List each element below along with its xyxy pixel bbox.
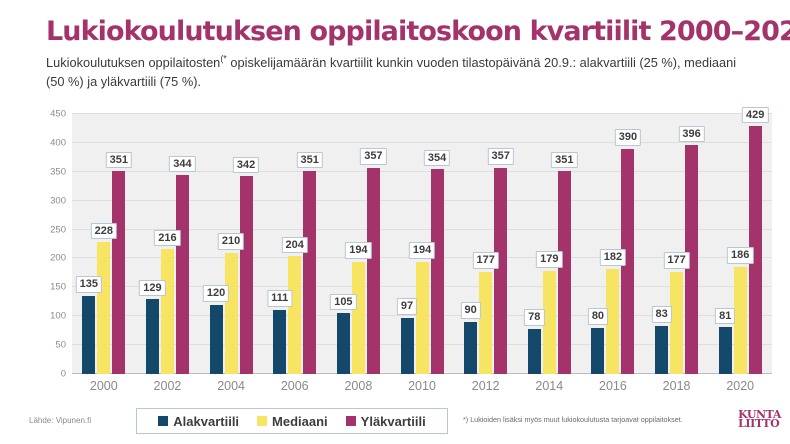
bar-value-label: 186: [727, 247, 753, 264]
bar-group: 105194357: [327, 114, 391, 374]
bar-rect: [479, 272, 492, 374]
legend-swatch-icon: [257, 416, 267, 426]
chart-footer: Lähde: Vipunen.fi AlakvartiiliMediaaniYl…: [0, 400, 790, 444]
bar[interactable]: 351: [303, 171, 316, 374]
x-axis-tick-label: 2018: [645, 374, 709, 400]
x-axis-tick-label: 2014: [517, 374, 581, 400]
bar-rect: [352, 262, 365, 374]
bar[interactable]: 179: [543, 271, 556, 374]
bar-group: 129216344: [136, 114, 200, 374]
bar[interactable]: 182: [606, 269, 619, 374]
bar[interactable]: 357: [494, 168, 507, 374]
bar[interactable]: 90: [464, 322, 477, 374]
legend-item[interactable]: Alakvartiili: [158, 414, 239, 429]
bar-group: 111204351: [263, 114, 327, 374]
bar-rect: [225, 253, 238, 374]
bar-rect: [240, 176, 253, 374]
bar[interactable]: 135: [82, 296, 95, 374]
bar-groups: 1352283511292163441202103421112043511051…: [72, 114, 772, 374]
bar-rect: [176, 175, 189, 374]
bar-value-label: 182: [600, 249, 626, 266]
bar-group: 135228351: [72, 114, 136, 374]
bar-group: 81186429: [708, 114, 772, 374]
bar-value-label: 204: [282, 237, 308, 254]
bar-value-label: 390: [615, 129, 641, 146]
bar-group: 97194354: [390, 114, 454, 374]
bar[interactable]: 194: [352, 262, 365, 374]
bar[interactable]: 111: [273, 310, 286, 374]
y-axis: 050100150200250300350400450: [0, 114, 72, 374]
x-axis-tick-label: 2000: [72, 374, 136, 400]
chart-plot-wrapper: 050100150200250300350400450 135228351129…: [0, 108, 790, 400]
legend-swatch-icon: [158, 416, 168, 426]
bar-value-label: 129: [139, 280, 165, 297]
bar-value-label: 351: [106, 152, 132, 169]
y-axis-tick-label: 100: [50, 311, 66, 322]
plot-area: 1352283511292163441202103421112043511051…: [72, 114, 772, 374]
bar-group: 90177357: [454, 114, 518, 374]
bar[interactable]: 210: [225, 253, 238, 374]
bar-value-label: 78: [524, 309, 544, 326]
bar-value-label: 83: [651, 306, 671, 323]
legend-label: Alakvartiili: [173, 414, 239, 429]
bar-value-label: 111: [267, 290, 292, 307]
legend-label: Yläkvartiili: [361, 414, 426, 429]
bar-rect: [528, 329, 541, 374]
x-axis-tick-label: 2020: [708, 374, 772, 400]
bar-rect: [367, 168, 380, 374]
bar-rect: [606, 269, 619, 374]
bar-value-label: 105: [330, 294, 356, 311]
page-title: Lukiokoulutuksen oppilaitoskoon kvartiil…: [46, 18, 790, 46]
legend-item[interactable]: Mediaani: [257, 414, 328, 429]
x-axis-tick-label: 2002: [136, 374, 200, 400]
bar-rect: [464, 322, 477, 374]
x-axis-tick-label: 2010: [390, 374, 454, 400]
bar-rect: [558, 171, 571, 374]
bar-group: 80182390: [581, 114, 645, 374]
y-axis-tick-label: 0: [61, 369, 66, 380]
bar-value-label: 210: [218, 233, 244, 250]
kuntaliitto-logo: KUNTA LIITTO: [738, 410, 781, 429]
bar-rect: [303, 171, 316, 374]
bar-rect: [655, 326, 668, 374]
bar-value-label: 97: [397, 298, 417, 315]
bar-value-label: 396: [678, 126, 704, 143]
bar[interactable]: 83: [655, 326, 668, 374]
bar-value-label: 194: [345, 242, 371, 259]
bar-rect: [146, 299, 159, 374]
bar-rect: [416, 262, 429, 374]
bar-rect: [112, 171, 125, 374]
bar-value-label: 357: [360, 148, 386, 165]
x-axis-tick-label: 2016: [581, 374, 645, 400]
bar-rect: [494, 168, 507, 374]
bar[interactable]: 120: [210, 305, 223, 374]
bar-rect: [161, 249, 174, 374]
legend-swatch-icon: [346, 416, 356, 426]
bar-value-label: 342: [233, 157, 259, 174]
bar[interactable]: 351: [558, 171, 571, 374]
bar-value-label: 120: [203, 285, 229, 302]
bar-rect: [401, 318, 414, 374]
y-axis-tick-label: 200: [50, 253, 66, 264]
bar[interactable]: 228: [97, 242, 110, 374]
bar-rect: [210, 305, 223, 374]
bar-value-label: 81: [715, 308, 735, 325]
bar-value-label: 354: [424, 150, 450, 167]
bar-value-label: 194: [409, 242, 435, 259]
bar-value-label: 80: [588, 308, 608, 325]
legend-label: Mediaani: [272, 414, 328, 429]
bar[interactable]: 97: [401, 318, 414, 374]
bar-value-label: 228: [91, 223, 117, 240]
source-note: Lähde: Vipunen.fi: [29, 416, 91, 425]
bar-rect: [337, 313, 350, 374]
bar[interactable]: 204: [288, 256, 301, 374]
x-axis-tick-label: 2006: [263, 374, 327, 400]
bar-value-label: 344: [169, 156, 195, 173]
bar[interactable]: 177: [670, 272, 683, 374]
bar-rect: [591, 328, 604, 374]
bar[interactable]: 78: [528, 329, 541, 374]
bar[interactable]: 354: [431, 169, 444, 374]
y-axis-tick-label: 250: [50, 224, 66, 235]
bar-value-label: 179: [536, 251, 562, 268]
bar-value-label: 351: [297, 152, 323, 169]
y-axis-tick-label: 300: [50, 195, 66, 206]
bar-rect: [719, 327, 732, 374]
bar[interactable]: 186: [734, 267, 747, 374]
bar[interactable]: 81: [719, 327, 732, 374]
bar-rect: [734, 267, 747, 374]
bar[interactable]: 177: [479, 272, 492, 374]
bar-rect: [431, 169, 444, 374]
bar-value-label: 177: [663, 252, 689, 269]
bar[interactable]: 342: [240, 176, 253, 374]
footnote-text: *) Lukioiden lisäksi myös muut lukiokoul…: [463, 415, 683, 424]
bar-rect: [288, 256, 301, 374]
y-axis-tick-label: 50: [55, 340, 66, 351]
bar[interactable]: 344: [176, 175, 189, 374]
x-axis-tick-label: 2012: [454, 374, 518, 400]
bar-rect: [273, 310, 286, 374]
bar-group: 78179351: [517, 114, 581, 374]
bar-rect: [670, 272, 683, 374]
logo-line-2: LIITTO: [738, 419, 781, 428]
y-axis-tick-label: 150: [50, 282, 66, 293]
bar[interactable]: 105: [337, 313, 350, 374]
bar-value-label: 135: [76, 276, 102, 293]
bar-value-label: 351: [551, 152, 577, 169]
x-axis: 2000200220042006200820102012201420162018…: [72, 374, 772, 400]
bar-value-label: 90: [461, 302, 481, 319]
y-axis-tick-label: 350: [50, 166, 66, 177]
chart-subtitle: Lukiokoulutuksen oppilaitosten(* opiskel…: [46, 54, 746, 91]
y-axis-tick-label: 450: [50, 109, 66, 120]
chart-header: Lukiokoulutuksen oppilaitoskoon kvartiil…: [0, 0, 790, 91]
bar-value-label: 357: [487, 148, 513, 165]
bar-rect: [97, 242, 110, 374]
bar[interactable]: 129: [146, 299, 159, 374]
chart-legend: AlakvartiiliMediaaniYläkvartiili: [136, 408, 448, 434]
subtitle-text-1: Lukiokoulutuksen oppilaitosten: [46, 55, 220, 70]
bar-group: 83177396: [645, 114, 709, 374]
bar-rect: [82, 296, 95, 374]
bar-group: 120210342: [199, 114, 263, 374]
bar[interactable]: 357: [367, 168, 380, 374]
bar[interactable]: 351: [112, 171, 125, 374]
bar-rect: [543, 271, 556, 374]
x-axis-tick-label: 2008: [327, 374, 391, 400]
bar[interactable]: 80: [591, 328, 604, 374]
x-axis-tick-label: 2004: [199, 374, 263, 400]
bar-value-label: 216: [154, 230, 180, 247]
bar[interactable]: 194: [416, 262, 429, 374]
bar-value-label: 177: [472, 252, 498, 269]
y-axis-tick-label: 400: [50, 137, 66, 148]
bar[interactable]: 216: [161, 249, 174, 374]
bar-value-label: 429: [742, 107, 768, 124]
legend-item[interactable]: Yläkvartiili: [346, 414, 426, 429]
